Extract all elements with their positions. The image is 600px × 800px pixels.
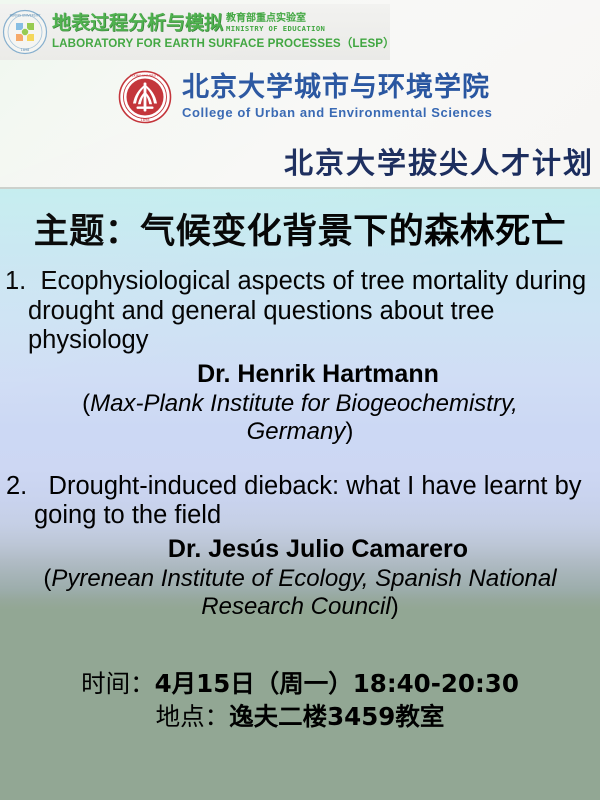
lesp-seal-icon: PEKING UNIVERSITY 1898 [2,9,48,55]
svg-text:1898: 1898 [140,118,150,122]
event-place-label: 地点： [156,702,230,731]
svg-text:PEKING UNIVERSITY: PEKING UNIVERSITY [130,74,160,78]
affiliation-text: Pyrenean Institute of Ecology, Spanish N… [51,565,556,620]
lesp-moe-chinese: 教育部重点实验室 [226,14,325,25]
svg-text:1898: 1898 [21,48,30,52]
talk-speaker: Dr. Henrik Hartmann [0,359,600,389]
poster-main-title: 主题：气候变化背景下的森林死亡 [0,203,600,254]
college-english-name: College of Urban and Environmental Scien… [182,105,492,120]
talk-title: 2. Drought-induced dieback: what I have … [0,472,600,531]
affiliation-text: Max-Plank Institute for Biogeochemistry,… [90,390,518,445]
event-time-line: 时间：4月15日（周一）18:40-20:30 [0,667,600,700]
talk-title: 1. Ecophysiological aspects of tree mort… [0,267,600,356]
talk-item: 1. Ecophysiological aspects of tree mort… [0,267,600,446]
talk-list: 1. Ecophysiological aspects of tree mort… [0,267,600,635]
lesp-moe-block: 教育部重点实验室 MINISTRY OF EDUCATION [226,14,325,32]
affiliation-close-paren: ) [391,593,399,620]
college-identity-block: PEKING UNIVERSITY 1898 北京大学城市与环境学院 Colle… [118,70,492,124]
college-chinese-name: 北京大学城市与环境学院 [182,74,492,102]
event-place-line: 地点：逸夫二楼3459教室 [0,700,600,733]
poster-header: PEKING UNIVERSITY 1898 地表过程分析与模拟 教育部重点实验… [0,0,600,189]
event-time-value: 4月15日（周一）18:40-20:30 [155,669,519,698]
lesp-chinese-name: 地表过程分析与模拟 [52,14,223,33]
event-details: 时间：4月15日（周一）18:40-20:30 地点：逸夫二楼3459教室 [0,667,600,734]
lesp-text-block: 地表过程分析与模拟 教育部重点实验室 MINISTRY OF EDUCATION… [52,14,395,51]
talk-affiliation: (Pyrenean Institute of Ecology, Spanish … [0,565,600,621]
lesp-english-name: LABORATORY FOR EARTH SURFACE PROCESSES（L… [52,35,395,51]
lesp-moe-english: MINISTRY OF EDUCATION [226,25,325,33]
poster-body: 主题：气候变化背景下的森林死亡 1. Ecophysiological aspe… [0,189,600,800]
talk-item: 2. Drought-induced dieback: what I have … [0,472,600,621]
lesp-lab-banner: PEKING UNIVERSITY 1898 地表过程分析与模拟 教育部重点实验… [0,4,390,60]
talk-number: 1. [5,267,26,295]
affiliation-open-paren: ( [82,390,90,417]
program-label: 北京大学拔尖人才计划 [284,140,594,182]
talk-number: 2. [6,472,27,500]
talk-speaker: Dr. Jesús Julio Camarero [0,534,600,564]
talk-affiliation: (Max-Plank Institute for Biogeochemistry… [0,390,600,446]
talk-title-text: Ecophysiological aspects of tree mortali… [28,267,586,354]
svg-text:PEKING UNIVERSITY: PEKING UNIVERSITY [10,13,41,17]
college-text-block: 北京大学城市与环境学院 College of Urban and Environ… [182,74,492,120]
talk-title-text: Drought-induced dieback: what I have lea… [34,472,582,530]
event-time-label: 时间： [81,669,155,698]
affiliation-close-paren: ) [345,418,353,445]
seminar-poster: PEKING UNIVERSITY 1898 地表过程分析与模拟 教育部重点实验… [0,0,600,800]
event-place-value: 逸夫二楼3459教室 [229,702,444,731]
peking-university-seal-icon: PEKING UNIVERSITY 1898 [118,70,172,124]
